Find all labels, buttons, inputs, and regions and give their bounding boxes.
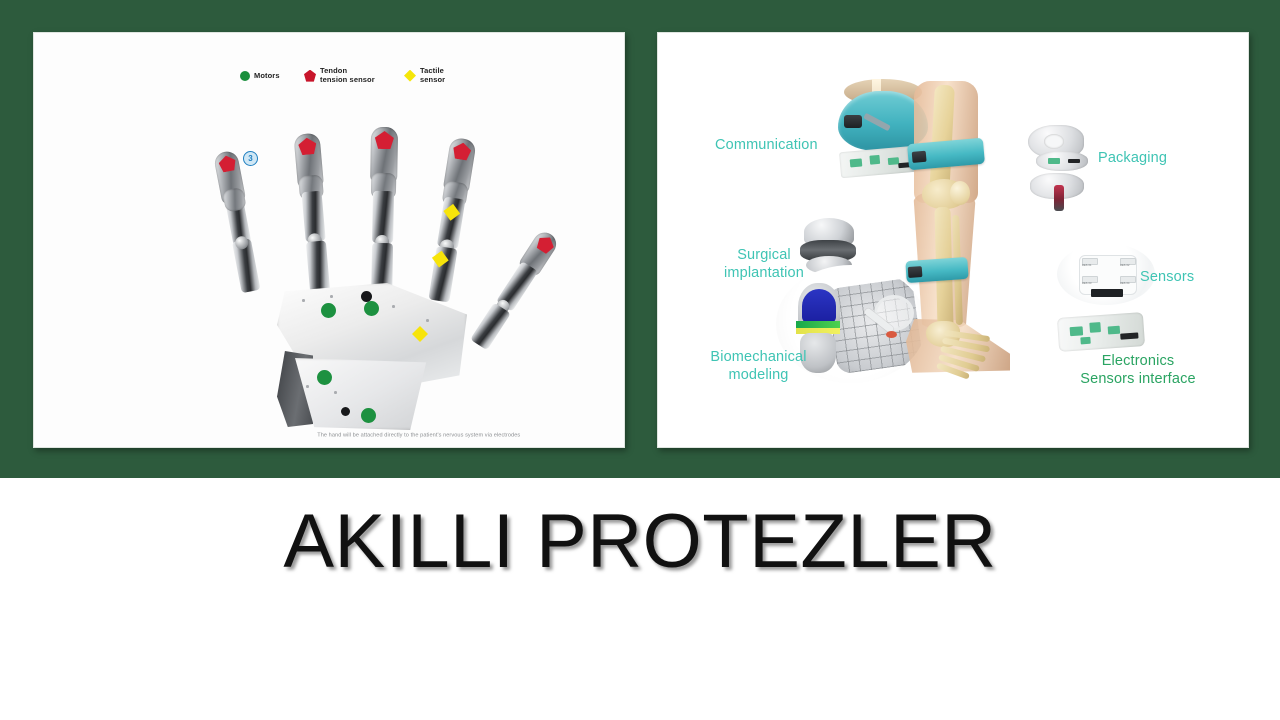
palm-rivet: [330, 295, 333, 298]
smart-band-calf: [905, 257, 968, 283]
sensor-readout-label: RES 02: [1120, 264, 1130, 267]
palm-rivet: [334, 391, 337, 394]
slide-title: AKILLI PROTEZLER: [283, 499, 996, 584]
motor-marker: [361, 408, 376, 423]
palm-rivet: [306, 385, 309, 388]
sensor-readout-bar: [1091, 289, 1123, 297]
label-sensors: Sensors: [1140, 269, 1194, 287]
bone-patella: [950, 181, 970, 205]
model-stress-green-band: [796, 321, 840, 328]
pcb-chip: [1108, 326, 1121, 335]
right-image-panel: RES 01 RES 02 RES 03 RES 04 Communicatio…: [657, 32, 1249, 448]
packaging-stem-pin: [1054, 185, 1064, 211]
tactile-diamond-icon: [404, 70, 416, 82]
pcb-chip: [1080, 337, 1090, 345]
palm-rivet: [302, 299, 305, 302]
motor-marker: [364, 301, 379, 316]
thumb-mechanism: [470, 303, 511, 351]
packaging-cavity: [1044, 134, 1064, 149]
legend-label-tendon: Tendon tension sensor: [320, 67, 375, 84]
hand-legend: Motors Tendon tension sensor Tactile sen…: [184, 67, 494, 95]
palm-rivet: [426, 319, 429, 322]
sensor-readout-label: RES 04: [1120, 282, 1130, 285]
hand-caption: The hand will be attached directly to th…: [194, 432, 625, 438]
hand-finger-ring: [352, 124, 417, 305]
motor-marker: [321, 303, 336, 318]
finger-mechanism: [306, 240, 330, 294]
presentation-slide: Motors Tendon tension sensor Tactile sen…: [0, 0, 1280, 720]
pcb-chip: [1070, 326, 1084, 336]
pcb-chip: [850, 158, 863, 167]
robotic-hand-figure: Motors Tendon tension sensor Tactile sen…: [34, 33, 624, 447]
motors-circle-icon: [240, 71, 250, 81]
legend-item-motors: Motors: [240, 71, 280, 81]
palm-rivet: [392, 305, 395, 308]
tendon-pentagon-icon: [304, 70, 316, 82]
left-image-panel: Motors Tendon tension sensor Tactile sen…: [33, 32, 625, 448]
sensor-readout-label: RES 01: [1082, 264, 1092, 267]
pcb-chip: [1089, 322, 1101, 333]
pcb-chip: [869, 155, 880, 165]
label-electronics-sensors-interface: Electronics Sensors interface: [1058, 353, 1218, 388]
label-communication: Communication: [715, 137, 818, 155]
legend-label-motors: Motors: [254, 72, 280, 81]
hand-finger-middle: [277, 127, 352, 304]
callout-badge-3: 3: [243, 151, 258, 166]
knee-prosthesis-figure: RES 01 RES 02 RES 03 RES 04 Communicatio…: [658, 33, 1248, 447]
model-stress-blue-region: [802, 289, 836, 323]
legend-item-tactile-sensor: Tactile sensor: [404, 67, 445, 84]
packaging-part-middle: [1036, 151, 1088, 171]
pcb-connector: [1120, 332, 1138, 339]
legend-label-tactile: Tactile sensor: [420, 67, 445, 84]
palm-lower-hole: [341, 407, 350, 416]
legend-item-tendon-tension-sensor: Tendon tension sensor: [304, 67, 375, 84]
hand-finger-index: [194, 140, 283, 309]
sensor-readout-label: RES 03: [1082, 282, 1092, 285]
motor-marker: [317, 370, 332, 385]
packaging-connector: [1068, 159, 1080, 163]
label-packaging: Packaging: [1098, 150, 1167, 168]
label-surgical-implantation: Surgical implantation: [704, 247, 824, 282]
band-sensor-module: [912, 151, 927, 163]
packaging-embedded-chip: [1048, 158, 1060, 164]
electronics-interface-board: [1057, 312, 1145, 352]
communication-device-port: [844, 115, 862, 128]
label-biomechanical-modeling: Biomechanical modeling: [691, 349, 826, 384]
anatomical-leg: [880, 81, 1020, 411]
band-sensor-module: [908, 266, 923, 278]
